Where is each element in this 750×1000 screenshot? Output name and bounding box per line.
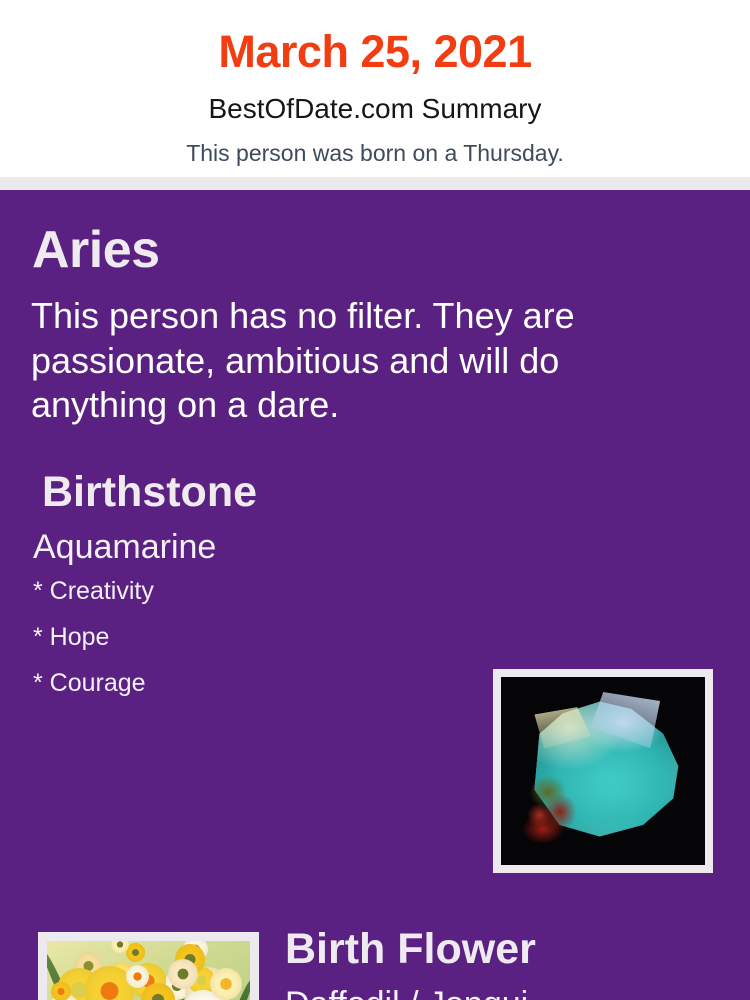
zodiac-description: This person has no filter. They are pass… bbox=[31, 294, 651, 428]
aquamarine-crystal-photo bbox=[501, 677, 705, 865]
birth-flower-name: Daffodil / Jonqui bbox=[285, 971, 715, 1000]
birthstone-section: Birthstone Aquamarine * Creativity * Hop… bbox=[33, 471, 473, 717]
list-item: * Courage bbox=[33, 671, 473, 717]
page-title: March 25, 2021 bbox=[0, 0, 750, 74]
born-day-text: This person was born on a Thursday. bbox=[0, 123, 750, 165]
header-divider bbox=[0, 177, 750, 190]
summary-card: March 25, 2021 BestOfDate.com Summary Th… bbox=[0, 0, 750, 1000]
main-panel: Aries This person has no filter. They ar… bbox=[0, 190, 750, 1000]
daffodil-field-photo bbox=[47, 941, 250, 1000]
list-item: * Creativity bbox=[33, 579, 473, 625]
daffodil-bloom bbox=[126, 965, 149, 988]
birthstone-name: Aquamarine bbox=[33, 514, 473, 564]
birth-flower-image-frame bbox=[38, 932, 259, 1000]
birthstone-trait-list: * Creativity * Hope * Courage bbox=[33, 564, 473, 717]
daffodil-bloom bbox=[51, 982, 71, 1000]
list-item: * Hope bbox=[33, 625, 473, 671]
site-summary-label: BestOfDate.com Summary bbox=[0, 74, 750, 123]
zodiac-sign-name: Aries bbox=[32, 224, 160, 276]
daffodil-bloom bbox=[210, 968, 242, 1000]
birth-flower-heading: Birth Flower bbox=[285, 928, 715, 971]
birthstone-heading: Birthstone bbox=[33, 471, 473, 514]
daffodil-bloom bbox=[126, 943, 144, 961]
header: March 25, 2021 BestOfDate.com Summary Th… bbox=[0, 0, 750, 177]
crystal-red-matrix bbox=[521, 812, 570, 850]
birthstone-image-frame bbox=[493, 669, 713, 873]
birth-flower-section: Birth Flower Daffodil / Jonqui * New beg… bbox=[285, 928, 715, 1000]
